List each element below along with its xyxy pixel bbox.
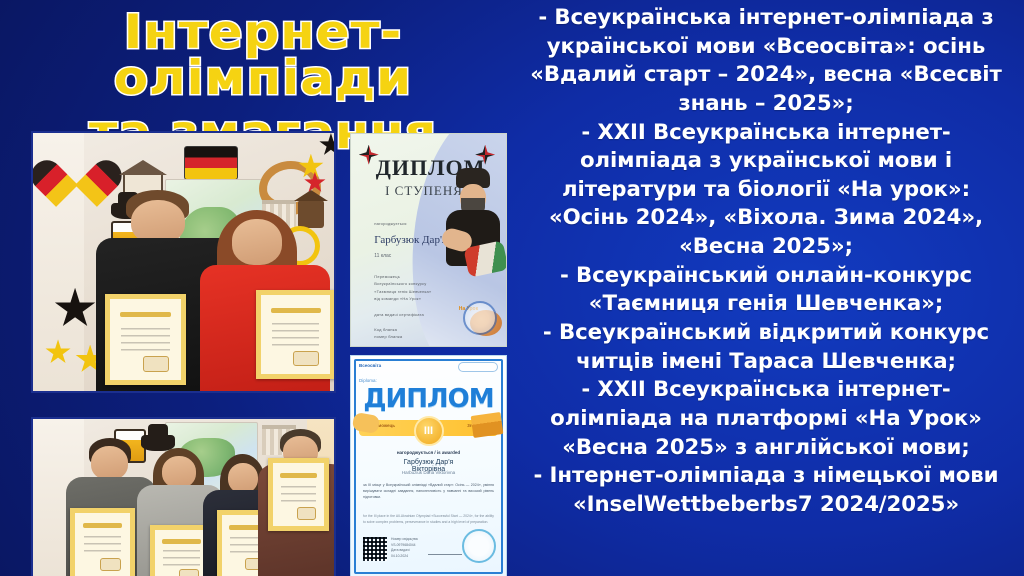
diploma-awarded-label: нагороджується [374,221,406,226]
diploma-recipient-name-en: Harbuziuk Daria Viktorivna [402,470,455,475]
german-flag-icon [184,146,238,180]
student-1 [78,438,144,576]
body-paragraph-6: - Інтернет-олімпіада з німецької мови «I… [524,462,1008,519]
body-paragraph-4: - Всеукраїнський відкритий конкурс читці… [524,319,1008,376]
diploma-body-line-3: «Таємниця генія Шевченка» [374,289,431,294]
certificate-seal [143,356,169,372]
diploma-type-pill [458,362,498,372]
diploma-shevchenko: ДИПЛОМ I СТУПЕНЯ нагороджується Гарбузюк… [350,133,507,347]
signature-line [428,554,462,555]
qr-code-icon [363,537,387,561]
diploma-word-label: Diploma: [359,378,377,383]
title-line-1: Інтернет-олімпіади [0,10,533,102]
certificate-seal [297,507,316,520]
diploma-body-line-4: від команди «На Урок» [374,296,421,301]
vseosvita-brand-label: Всеосвіта [359,363,381,368]
diploma-vseosvita: Всеосвіта Diploma: ДИПЛОМ Переможець 3rd… [350,355,507,576]
shevchenko-illustration [440,168,504,304]
face [91,446,128,480]
diploma-body-line-1: Переможець [374,274,400,279]
diploma-awarded-label: нагороджується / is awarded [397,450,460,455]
certificate [256,290,335,379]
diploma-title: ДИПЛОМ [363,384,493,414]
diploma-footer-meta-1: Код бланка [374,327,397,332]
official-seal-icon [462,529,496,563]
german-heart-icon [45,141,107,197]
slide: Інтернет-олімпіади та змагання [0,0,1024,576]
body-text-panel: - Всеукраїнська інтернет-олімпіада з укр… [512,4,1020,574]
diploma-body-text-en: for the III place in the All-Ukrainian O… [363,514,494,526]
face [162,456,196,488]
degree-badge: III [414,416,444,446]
diploma-header: Всеосвіта [357,362,500,374]
diploma-footer-meta-2: номер бланка [374,334,402,339]
certificate-seal [100,558,120,571]
diploma-grade: 11 клас [374,253,391,259]
student-girl [211,210,319,391]
photo-germany [31,131,336,393]
book-illustration [471,412,504,438]
diploma-body-text: за III місце у Всеукраїнській олімпіаді … [363,482,494,500]
certificate-seal [293,351,319,367]
student-4 [271,429,334,576]
body-paragraph-1: - Всеукраїнська інтернет-олімпіада з укр… [524,4,1008,119]
body-paragraph-5: - XXII Всеукраїнська інтернет-олімпіада … [524,376,1008,462]
face [228,463,258,494]
diploma-date-value: 04.10.2024 [391,554,418,559]
official-seal-icon [463,301,497,335]
diploma-code-label: Номер свідоцтва [391,537,418,542]
diploma-footer-left: дата видачі сертифіката [374,312,424,317]
face [232,219,282,264]
photo-group [31,417,336,576]
body-paragraph-3: - Всеукраїнський онлайн-конкурс «Таємниц… [524,262,1008,319]
diploma-body-line-2: Всеукраїнського конкурсу [374,281,426,286]
certificate-seal [179,569,199,576]
certificate [268,458,329,531]
certificate [70,508,134,576]
diploma-meta: Номер свідоцтва VS-0979684044 Дата видач… [391,537,418,559]
body-paragraph-2: - XXII Всеукраїнська інтернет-олімпіада … [524,119,1008,262]
certificate [105,294,187,384]
diploma-recipient-name: Гарбузюк Дар'я [374,234,447,246]
